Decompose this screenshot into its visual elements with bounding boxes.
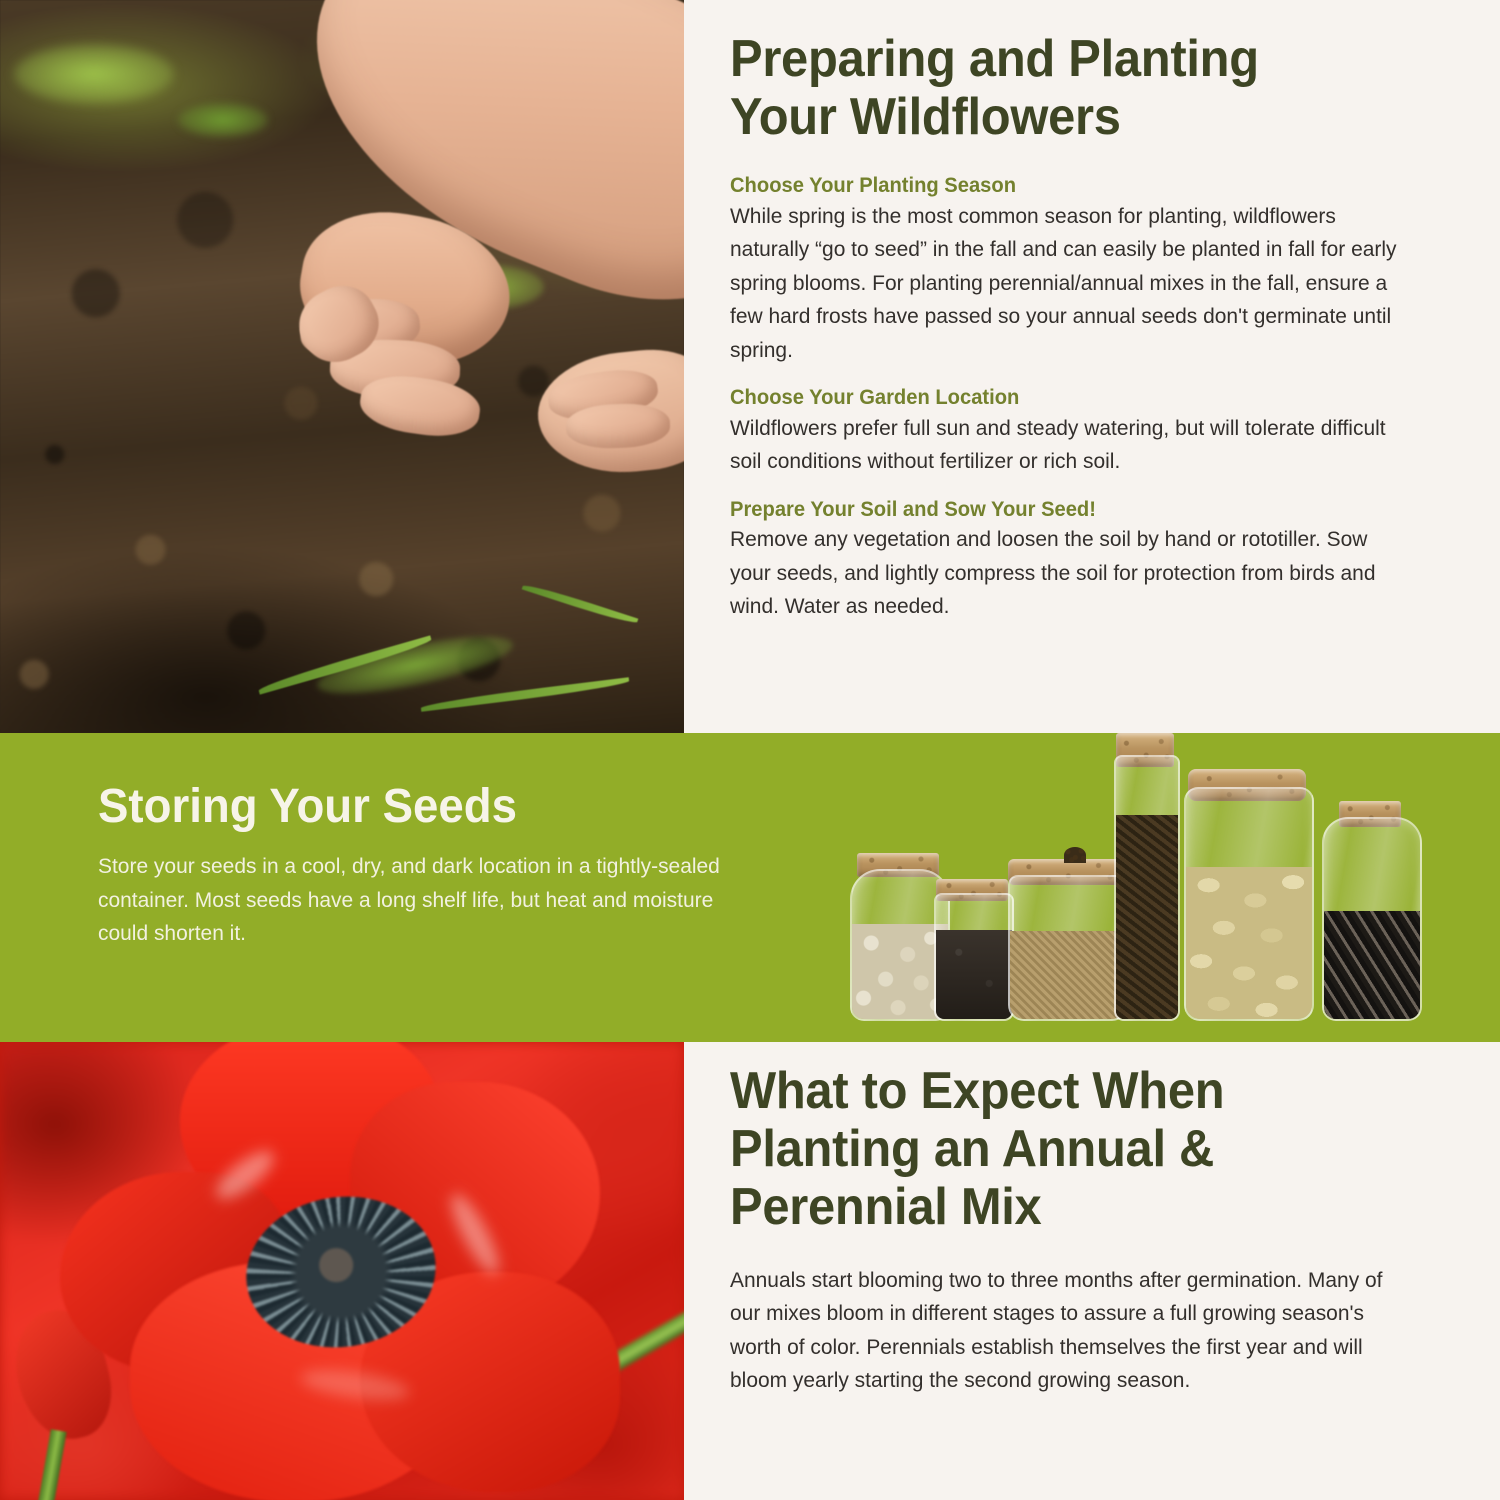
block-garden-location: Choose Your Garden Location Wildflowers … (730, 384, 1424, 478)
sunflower-seed-jar (1322, 821, 1418, 1021)
soil-foliage-2 (14, 44, 174, 104)
section-preparing-and-planting: Preparing and PlantingYour Wildflowers C… (0, 0, 1500, 733)
section-storing-your-seeds: Storing Your Seeds Store your seeds in a… (0, 733, 1500, 1042)
bottom-text-column: What to Expect WhenPlanting an Annual &P… (684, 1042, 1500, 1398)
section-what-to-expect: What to Expect WhenPlanting an Annual &P… (0, 1042, 1500, 1500)
brown-seed-tube (1114, 759, 1176, 1021)
cork-lid-knob (1064, 847, 1086, 863)
jar-contents-black-seed (936, 930, 1012, 1019)
page-title: Preparing and PlantingYour Wildflowers (730, 30, 1382, 146)
jar-contents-tan-seed (1010, 931, 1126, 1019)
red-poppy-photo (0, 1042, 684, 1500)
jar-glass (934, 893, 1014, 1021)
body-prepare-soil: Remove any vegetation and loosen the soi… (730, 523, 1407, 624)
tan-seed-jar (1008, 879, 1124, 1021)
subheading-garden-location: Choose Your Garden Location (730, 384, 1396, 411)
infographic-page: Preparing and PlantingYour Wildflowers C… (0, 0, 1500, 1500)
top-text-column: Preparing and PlantingYour Wildflowers C… (684, 0, 1500, 624)
jar-glass (1184, 787, 1314, 1021)
block-planting-season: Choose Your Planting Season While spring… (730, 172, 1424, 367)
black-seed-jar (934, 897, 1010, 1021)
soil-foliage-4 (178, 103, 268, 137)
jar-glass (1008, 875, 1128, 1021)
storing-seeds-body: Store your seeds in a cool, dry, and dar… (98, 850, 722, 951)
hand-sowing-seeds-photo (0, 0, 684, 733)
seed-jars-photo (846, 745, 1466, 1035)
jar-contents-pumpkin-seeds (1186, 867, 1312, 1019)
bottom-body: Annuals start blooming two to three mont… (730, 1264, 1407, 1398)
subheading-prepare-soil: Prepare Your Soil and Sow Your Seed! (730, 496, 1396, 523)
storing-seeds-title: Storing Your Seeds (98, 783, 517, 831)
white-bean-jar (850, 873, 946, 1021)
jar-contents-sunflower-seeds (1324, 911, 1420, 1019)
block-prepare-soil: Prepare Your Soil and Sow Your Seed! Rem… (730, 496, 1424, 624)
jar-contents-brown-seed (1116, 815, 1178, 1019)
pumpkin-seed-jar (1184, 791, 1310, 1021)
bottom-title: What to Expect WhenPlanting an Annual &P… (730, 1062, 1382, 1237)
body-planting-season: While spring is the most common season f… (730, 200, 1407, 368)
subheading-planting-season: Choose Your Planting Season (730, 172, 1396, 199)
jar-glass (1114, 755, 1180, 1021)
jar-glass (1322, 817, 1422, 1021)
body-garden-location: Wildflowers prefer full sun and steady w… (730, 412, 1407, 479)
